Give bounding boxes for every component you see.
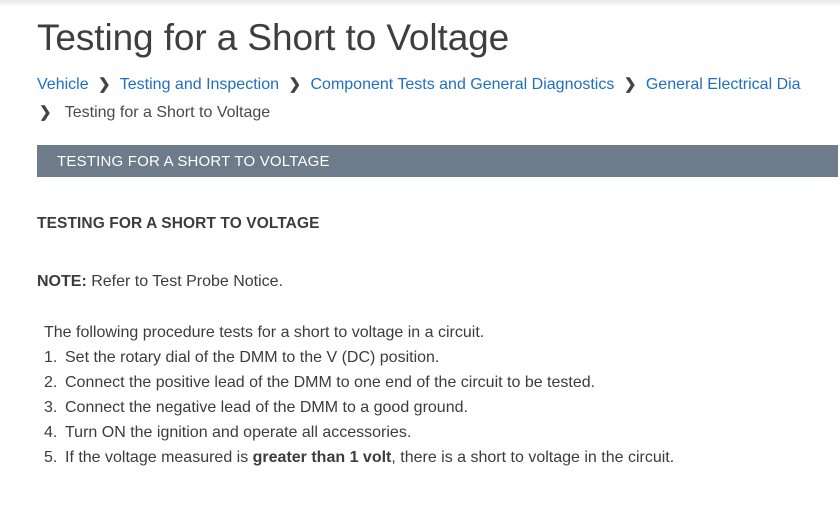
- list-item-text: If the voltage measured is: [65, 449, 253, 466]
- list-item-number: 2.: [44, 370, 65, 395]
- chevron-right-icon: ❯: [283, 72, 306, 97]
- list-item-text: Connect the positive lead of the DMM to …: [65, 374, 595, 391]
- list-item: 1.Set the rotary dial of the DMM to the …: [44, 345, 840, 370]
- breadcrumb: Vehicle ❯ Testing and Inspection ❯ Compo…: [37, 72, 840, 125]
- list-item-text: Set the rotary dial of the DMM to the V …: [65, 349, 439, 366]
- breadcrumb-item-testing-and-inspection[interactable]: Testing and Inspection: [120, 76, 279, 93]
- list-item-number: 1.: [44, 345, 65, 370]
- note-text: Refer to Test Probe Notice.: [87, 273, 283, 290]
- page-title: Testing for a Short to Voltage: [37, 10, 840, 60]
- note-paragraph: NOTE: Refer to Test Probe Notice.: [37, 269, 840, 294]
- breadcrumb-item-component-tests[interactable]: Component Tests and General Diagnostics: [310, 76, 614, 93]
- list-item: 2.Connect the positive lead of the DMM t…: [44, 370, 840, 395]
- breadcrumb-item-current: Testing for a Short to Voltage: [65, 104, 270, 121]
- breadcrumb-line-2: ❯ Testing for a Short to Voltage: [37, 100, 840, 125]
- article-body: TESTING FOR A SHORT TO VOLTAGE NOTE: Ref…: [37, 211, 840, 470]
- page-content: Testing for a Short to Voltage Vehicle ❯…: [0, 6, 840, 470]
- breadcrumb-item-general-electrical-diagnostics[interactable]: General Electrical Dia: [646, 76, 801, 93]
- section-heading: TESTING FOR A SHORT TO VOLTAGE: [37, 211, 840, 236]
- list-item: 4.Turn ON the ignition and operate all a…: [44, 420, 840, 445]
- chevron-right-icon: ❯: [37, 100, 61, 125]
- breadcrumb-item-vehicle[interactable]: Vehicle: [37, 76, 89, 93]
- list-item-text-tail: , there is a short to voltage in the cir…: [391, 449, 674, 466]
- list-item-text: Turn ON the ignition and operate all acc…: [65, 424, 411, 441]
- note-label: NOTE:: [37, 273, 87, 290]
- section-banner-label: TESTING FOR A SHORT TO VOLTAGE: [37, 153, 330, 170]
- list-item: 5.If the voltage measured is greater tha…: [44, 445, 840, 470]
- chevron-right-icon: ❯: [619, 72, 642, 97]
- procedure-intro: The following procedure tests for a shor…: [44, 320, 840, 345]
- list-item-text: Connect the negative lead of the DMM to …: [65, 399, 468, 416]
- chevron-right-icon: ❯: [93, 72, 116, 97]
- list-item: 3.Connect the negative lead of the DMM t…: [44, 395, 840, 420]
- list-item-emphasis: greater than 1 volt: [253, 449, 392, 466]
- list-item-number: 4.: [44, 420, 65, 445]
- procedure-list: The following procedure tests for a shor…: [37, 320, 840, 470]
- list-item-number: 5.: [44, 445, 65, 470]
- list-item-number: 3.: [44, 395, 65, 420]
- document-page: Testing for a Short to Voltage Vehicle ❯…: [0, 6, 840, 507]
- section-banner: TESTING FOR A SHORT TO VOLTAGE: [37, 145, 838, 177]
